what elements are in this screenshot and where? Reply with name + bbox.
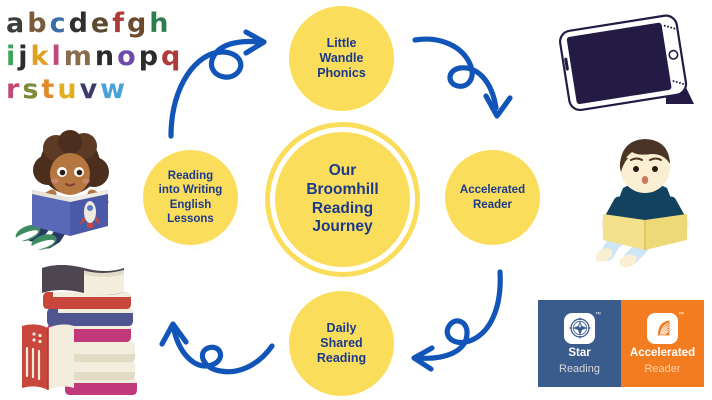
node-label-line: Wandle xyxy=(317,51,366,66)
trademark-symbol: ™ xyxy=(595,312,601,318)
arrow-left-to-top xyxy=(171,32,264,136)
node-label-line: Lessons xyxy=(159,212,223,226)
logo-subtitle: Reading xyxy=(559,363,600,375)
node-label: Little Wandle Phonics xyxy=(311,36,372,82)
node-label-line: Reading xyxy=(159,169,223,183)
node-reading-into-writing[interactable]: Reading into Writing English Lessons xyxy=(139,146,242,249)
node-daily-shared-reading[interactable]: Daily Shared Reading xyxy=(285,287,398,400)
arrow-top-to-right xyxy=(415,39,510,116)
arrow-right-to-bottom xyxy=(414,272,500,369)
node-label-line: Accelerated xyxy=(460,183,525,197)
node-label-line: English xyxy=(159,198,223,212)
node-label-line: Shared xyxy=(317,336,366,351)
node-label-line: into Writing xyxy=(159,183,223,197)
node-label-line: Little xyxy=(317,36,366,51)
logo-title: Accelerated xyxy=(630,347,695,360)
node-label: Daily Shared Reading xyxy=(311,321,372,367)
node-label-line: Daily xyxy=(317,321,366,336)
node-label: Reading into Writing English Lessons xyxy=(153,169,229,225)
logo-title: Star xyxy=(568,347,590,360)
compass-icon: ™ xyxy=(564,313,595,344)
diagram-canvas: a b c d e f g h i j k l m n o p q r s t … xyxy=(0,0,712,400)
node-accelerated-reader[interactable]: Accelerated Reader xyxy=(441,146,544,249)
arrow-bottom-to-left xyxy=(162,324,272,372)
center-title-line: Reading xyxy=(306,200,378,219)
logo-subtitle: Reader xyxy=(644,363,680,375)
node-little-wandle-phonics[interactable]: Little Wandle Phonics xyxy=(285,2,398,115)
star-reading-logo[interactable]: ™ Star Reading xyxy=(538,300,621,387)
node-label: Accelerated Reader xyxy=(454,183,531,211)
center-circle[interactable]: Our Broomhill Reading Journey xyxy=(265,122,420,277)
logo-group: ™ Star Reading ™ xyxy=(538,300,705,387)
center-title-line: Journey xyxy=(306,218,378,237)
trademark-symbol: ™ xyxy=(678,312,684,318)
open-page-icon: ™ xyxy=(647,313,678,344)
center-title-line: Broomhill xyxy=(306,181,378,200)
page-title: Our Broomhill Reading Journey xyxy=(300,162,384,238)
center-title-line: Our xyxy=(306,162,378,181)
node-label-line: Reader xyxy=(460,198,525,212)
node-label-line: Phonics xyxy=(317,66,366,81)
accelerated-reader-logo[interactable]: ™ Accelerated Reader xyxy=(621,300,704,387)
node-label-line: Reading xyxy=(317,351,366,366)
